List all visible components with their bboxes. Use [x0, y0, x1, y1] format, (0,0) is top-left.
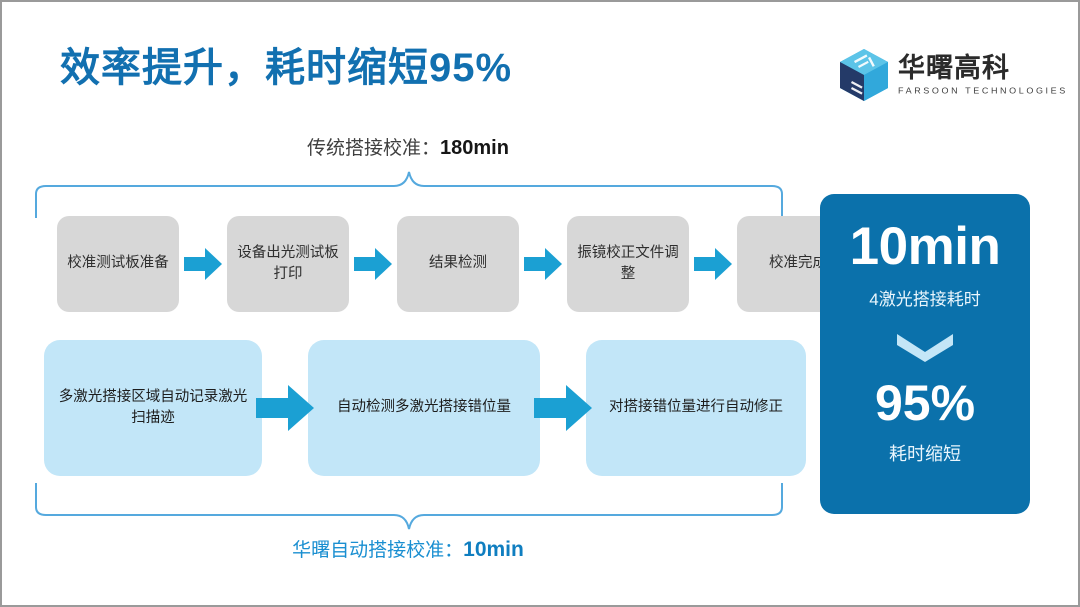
arrow-right-icon	[354, 247, 392, 281]
automatic-step-2[interactable]: 自动检测多激光搭接错位量	[308, 340, 540, 476]
automatic-step-3[interactable]: 对搭接错位量进行自动修正	[586, 340, 806, 476]
stat-primary-label: 4激光搭接耗时	[869, 285, 980, 310]
automatic-flow-caption-label: 华曙自动搭接校准：	[292, 540, 463, 561]
presentation-slide: 效率提升，耗时缩短95% 华曙高科 FARSOON TECHNOLOGIES 传…	[0, 0, 1080, 607]
arrow-right-icon	[694, 247, 732, 281]
traditional-flow-caption: 传统搭接校准：180min	[2, 133, 814, 160]
traditional-flow-row: 校准测试板准备 设备出光测试板打印 结果检测 振镜校正文件调整 校准完成	[57, 216, 763, 312]
page-title: 效率提升，耗时缩短95%	[60, 46, 512, 90]
automatic-flow-caption-value: 10min	[463, 538, 524, 561]
traditional-step-2-label: 设备出光测试板打印	[235, 243, 341, 285]
cube-icon	[838, 48, 890, 102]
stat-panel: 10min 4激光搭接耗时 95% 耗时缩短	[820, 194, 1030, 514]
arrow-right-icon	[534, 383, 592, 433]
traditional-step-2[interactable]: 设备出光测试板打印	[227, 216, 349, 312]
automatic-step-2-label: 自动检测多激光搭接错位量	[337, 397, 511, 418]
traditional-flow-caption-label: 传统搭接校准：	[307, 138, 440, 159]
automatic-step-3-label: 对搭接错位量进行自动修正	[609, 397, 783, 418]
traditional-step-3[interactable]: 结果检测	[397, 216, 519, 312]
stat-secondary-label: 耗时缩短	[889, 440, 961, 466]
logo-chinese-name: 华曙高科	[898, 55, 1068, 82]
automatic-step-1-label: 多激光搭接区域自动记录激光扫描迹	[52, 387, 254, 429]
traditional-flow-brace	[34, 170, 784, 218]
traditional-step-3-label: 结果检测	[429, 253, 487, 274]
stat-secondary-value: 95%	[875, 378, 975, 428]
traditional-flow-caption-value: 180min	[440, 137, 509, 159]
arrow-right-icon	[256, 383, 314, 433]
traditional-step-1-label: 校准测试板准备	[67, 253, 169, 274]
logo-text: 华曙高科 FARSOON TECHNOLOGIES	[898, 55, 1068, 96]
logo-english-name: FARSOON TECHNOLOGIES	[898, 87, 1068, 95]
arrow-right-icon	[524, 247, 562, 281]
automatic-flow-row: 多激光搭接区域自动记录激光扫描迹 自动检测多激光搭接错位量 对搭接错位量进行自动…	[44, 340, 774, 476]
chevron-down-icon	[897, 332, 953, 362]
traditional-step-5-label: 校准完成	[769, 253, 827, 274]
stat-primary-value: 10min	[850, 220, 1001, 273]
automatic-flow-brace	[34, 483, 784, 531]
company-logo: 华曙高科 FARSOON TECHNOLOGIES	[838, 46, 1038, 104]
arrow-right-icon	[184, 247, 222, 281]
traditional-step-4[interactable]: 振镜校正文件调整	[567, 216, 689, 312]
traditional-step-1[interactable]: 校准测试板准备	[57, 216, 179, 312]
traditional-step-4-label: 振镜校正文件调整	[575, 243, 681, 285]
automatic-step-1[interactable]: 多激光搭接区域自动记录激光扫描迹	[44, 340, 262, 476]
automatic-flow-caption: 华曙自动搭接校准：10min	[2, 535, 814, 562]
